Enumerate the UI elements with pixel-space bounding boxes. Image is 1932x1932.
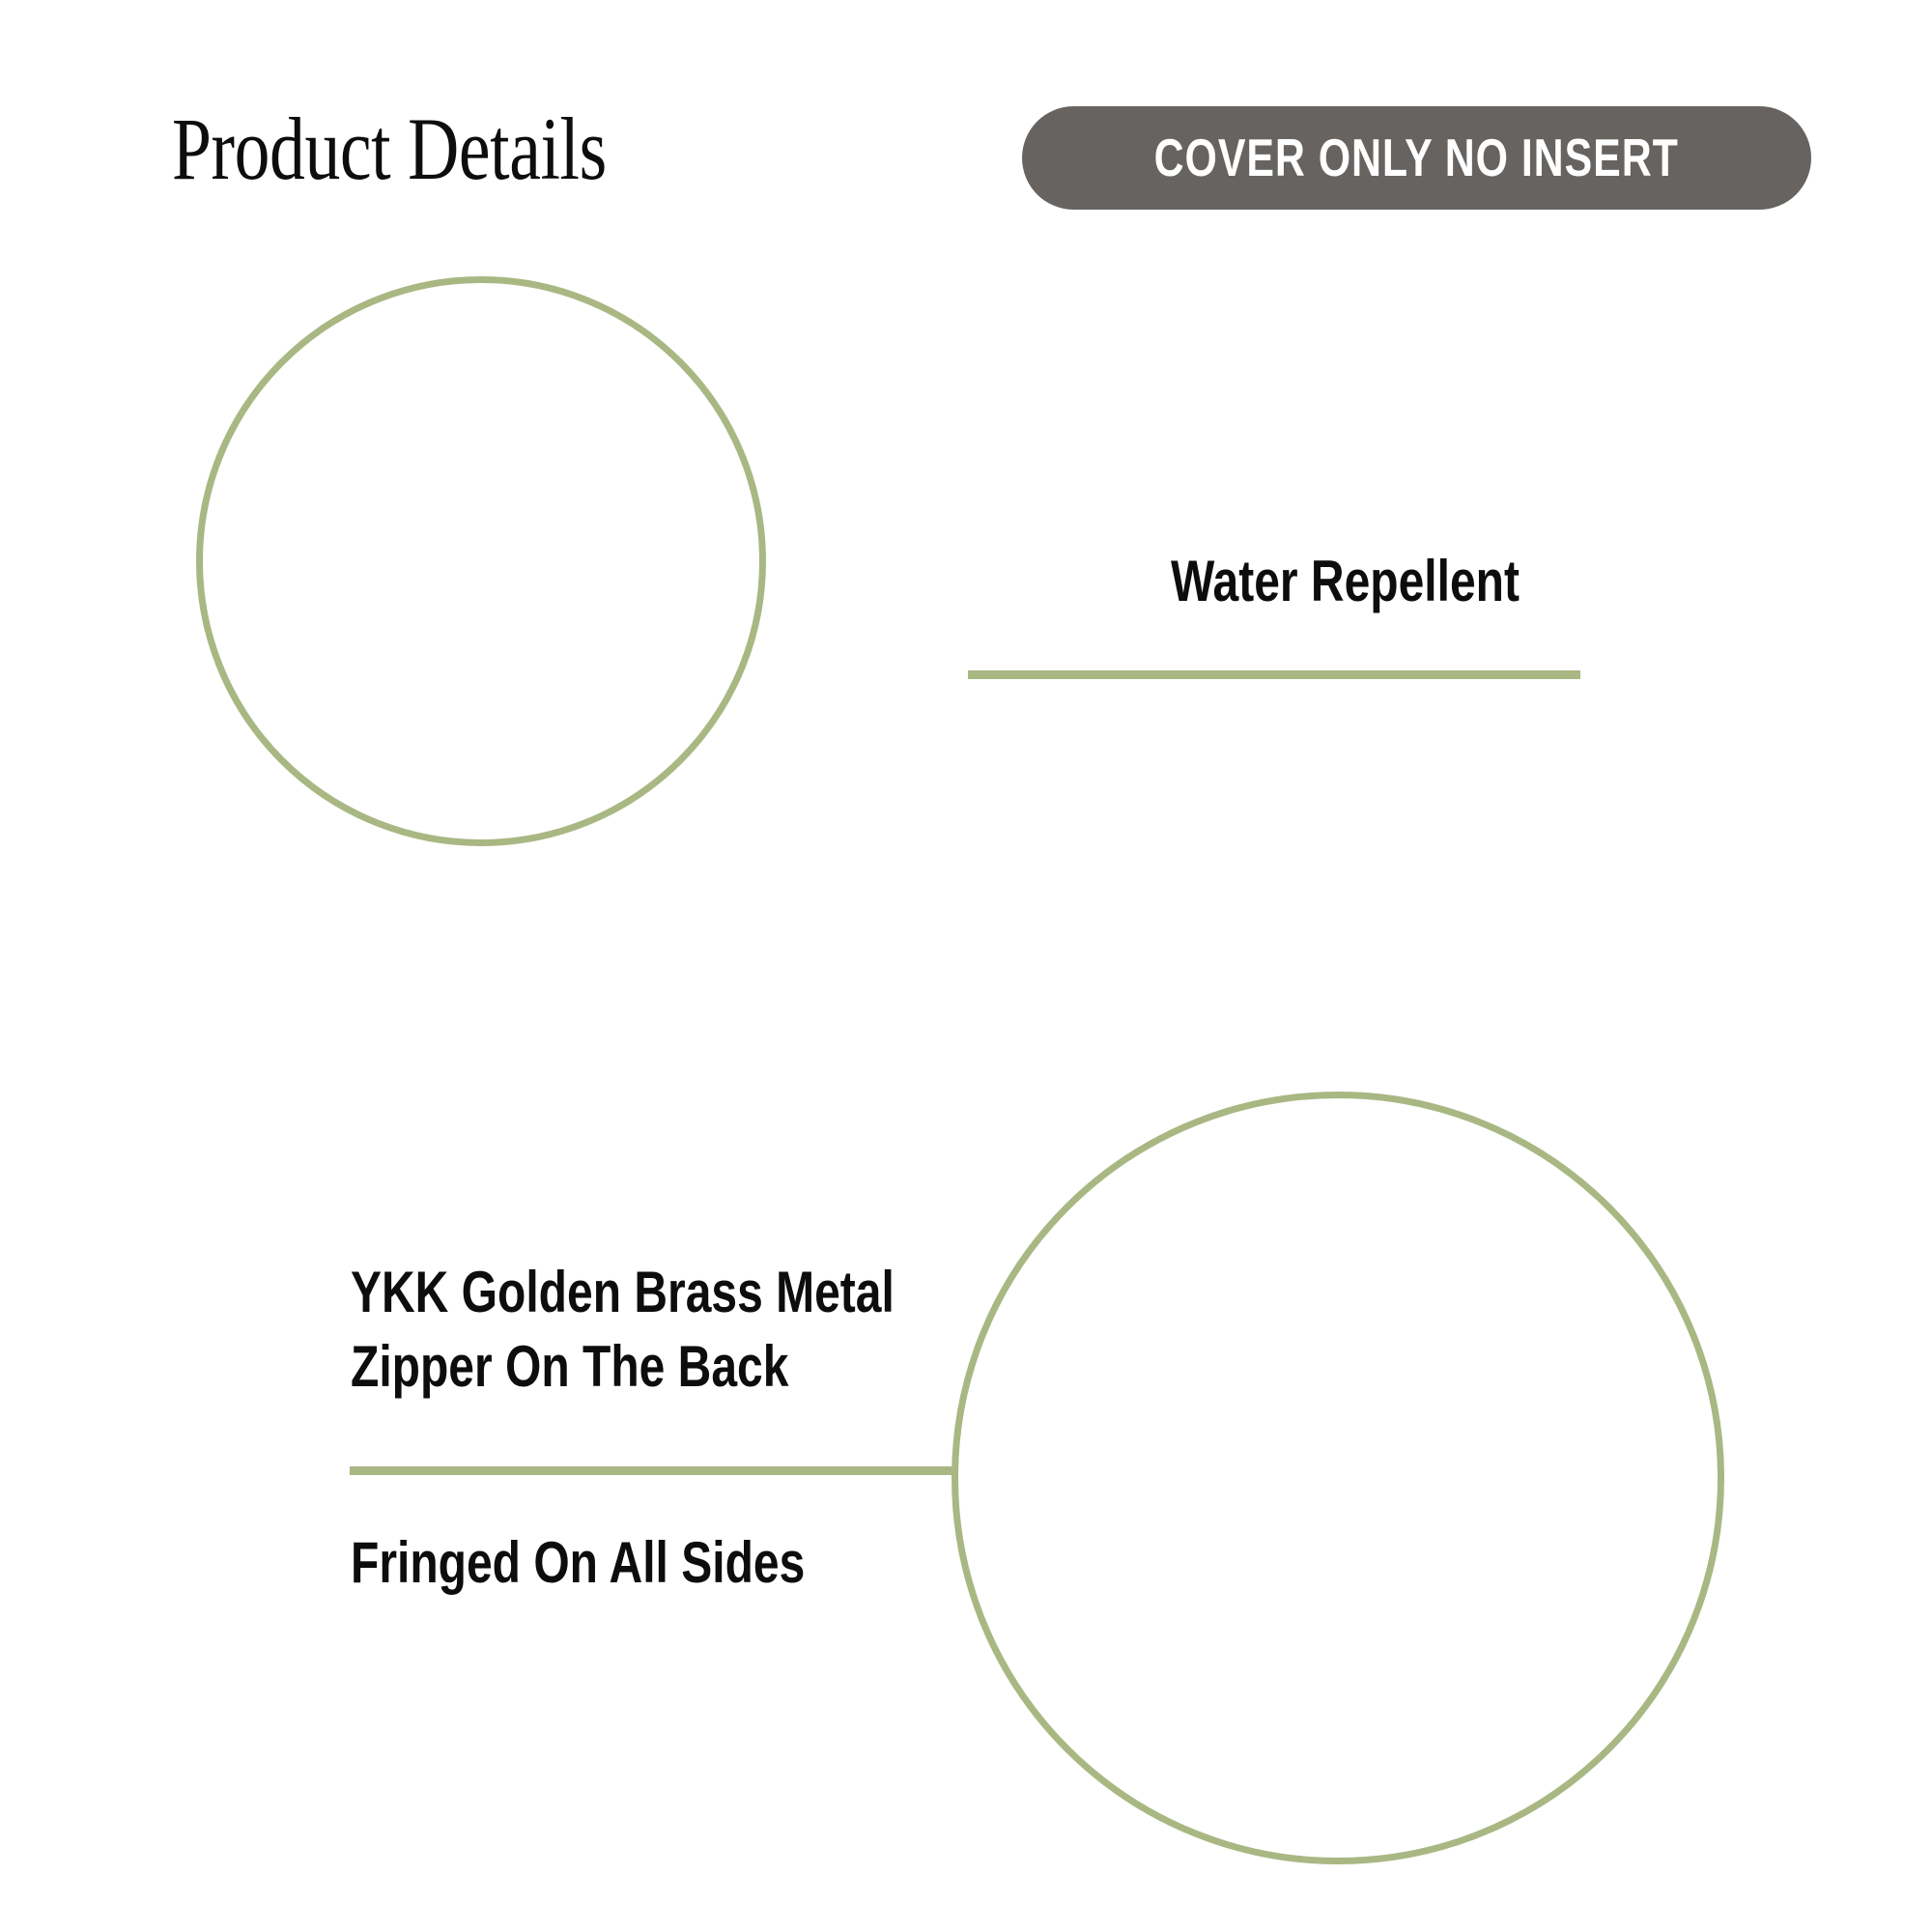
page-title: Product Details bbox=[172, 104, 607, 193]
feature-label-ykk-zipper-line2: Zipper On The Back bbox=[351, 1330, 895, 1405]
feature-label-water-repellent: Water Repellent bbox=[1171, 553, 1520, 611]
feature-label-fringed: Fringed On All Sides bbox=[351, 1526, 805, 1601]
status-badge-label: COVER ONLY NO INSERT bbox=[1154, 131, 1679, 185]
connector-line-zipper-fringe bbox=[350, 1466, 952, 1475]
infographic-canvas: Product Details COVER ONLY NO INSERT Wat… bbox=[0, 0, 1932, 1932]
feature-circle-frame-water-repellent bbox=[196, 276, 766, 846]
feature-label-ykk-zipper: YKK Golden Brass Metal Zipper On The Bac… bbox=[351, 1256, 895, 1405]
feature-circle-frame-zipper-fringe bbox=[952, 1092, 1724, 1864]
feature-label-ykk-zipper-line1: YKK Golden Brass Metal bbox=[351, 1256, 895, 1330]
connector-line-water-repellent bbox=[968, 670, 1580, 679]
status-badge: COVER ONLY NO INSERT bbox=[1022, 106, 1811, 210]
